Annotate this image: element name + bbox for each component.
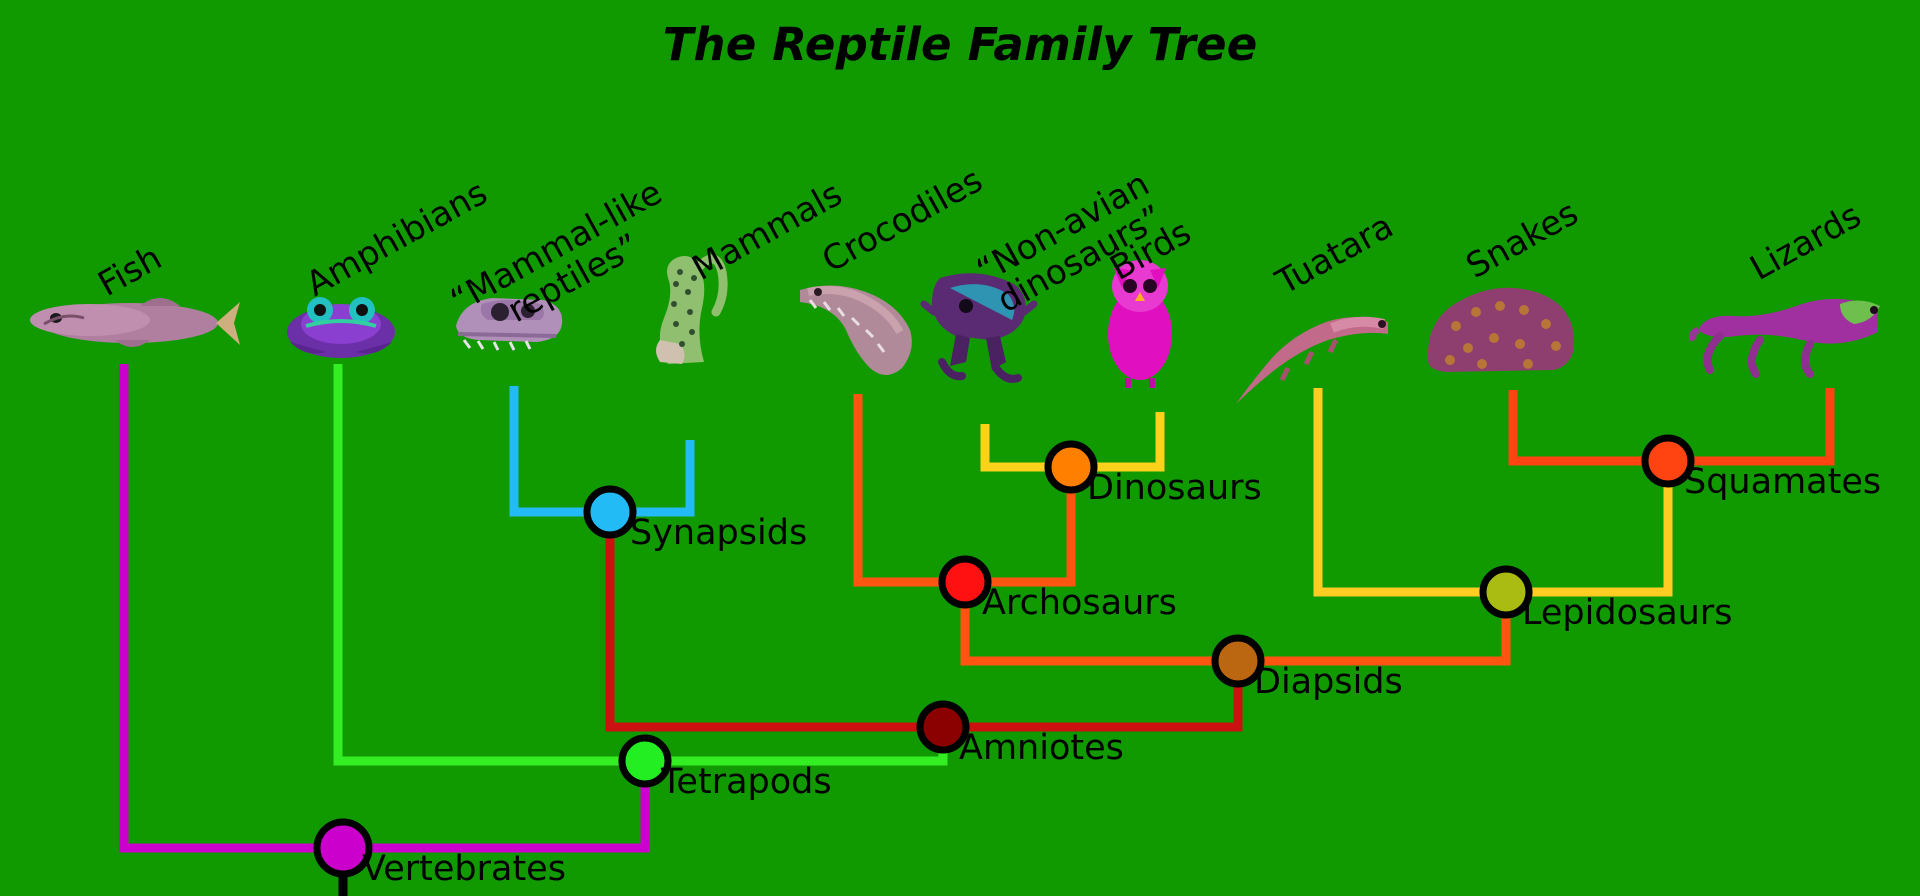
node-label-dinosaurs: Dinosaurs (1087, 468, 1262, 508)
node-label-lepidosaurs: Lepidosaurs (1522, 593, 1732, 633)
diagram-canvas: The Reptile Family Tree (0, 0, 1920, 896)
node-label-archosaurs: Archosaurs (982, 583, 1177, 623)
node-label-synapsids: Synapsids (630, 513, 807, 553)
branch-lepidosaurs (1318, 388, 1668, 592)
branch-archosaurs (858, 394, 1071, 582)
node-label-diapsids: Diapsids (1254, 662, 1403, 702)
node-synapsids[interactable] (587, 489, 633, 535)
node-label-squamates: Squamates (1684, 462, 1881, 502)
branch-vertebrates (124, 364, 645, 848)
node-label-amniotes: Amniotes (959, 728, 1124, 768)
node-label-tetrapods: Tetrapods (661, 762, 832, 802)
branch-tetrapods (338, 364, 943, 761)
node-label-vertebrates: Vertebrates (362, 849, 566, 889)
